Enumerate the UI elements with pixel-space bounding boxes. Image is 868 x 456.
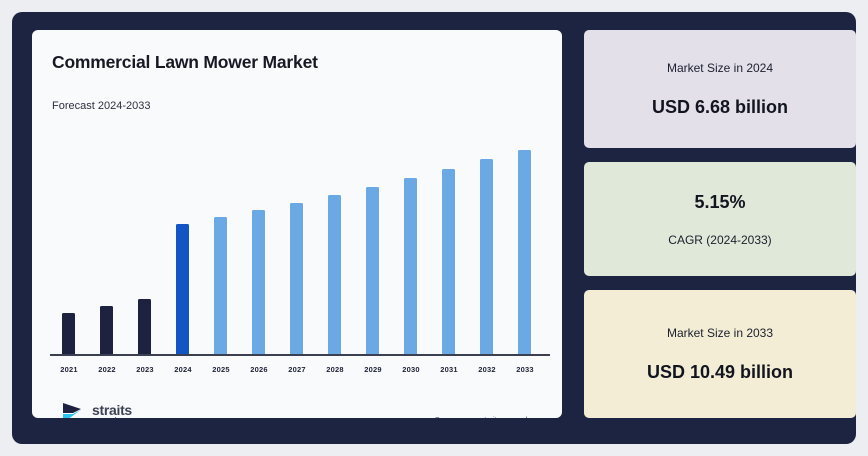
tick-label-2028: 2028 <box>316 365 354 374</box>
stat-value: USD 6.68 billion <box>652 97 788 118</box>
stat-label: Market Size in 2033 <box>667 326 773 340</box>
bar-2029[interactable] <box>366 187 379 354</box>
bar-slot <box>50 130 88 354</box>
bar-2032[interactable] <box>480 159 493 354</box>
bar-slot <box>392 130 430 354</box>
tick-label-2024: 2024 <box>164 365 202 374</box>
bar-2031[interactable] <box>442 169 455 354</box>
tick-label-2030: 2030 <box>392 365 430 374</box>
x-axis-line <box>50 354 550 356</box>
bar-slot <box>354 130 392 354</box>
stat-value: 5.15% <box>694 192 745 213</box>
stat-value: USD 10.49 billion <box>647 362 793 383</box>
bar-slot <box>240 130 278 354</box>
tick-label-2023: 2023 <box>126 365 164 374</box>
bar-slot <box>202 130 240 354</box>
page-background: Commercial Lawn Mower Market Forecast 20… <box>0 0 868 456</box>
infographic-panel: Commercial Lawn Mower Market Forecast 20… <box>12 12 856 444</box>
tick-label-2022: 2022 <box>88 365 126 374</box>
bar-series <box>50 130 550 354</box>
stat-label: CAGR (2024-2033) <box>668 233 771 247</box>
bar-slot <box>278 130 316 354</box>
bar-2027[interactable] <box>290 203 303 354</box>
arrow-logo-icon <box>62 402 88 418</box>
bar-slot <box>164 130 202 354</box>
tick-label-2031: 2031 <box>430 365 468 374</box>
stat-card-market-size-2024: Market Size in 2024 USD 6.68 billion <box>584 30 856 148</box>
tick-label-2021: 2021 <box>50 365 88 374</box>
bar-slot <box>506 130 544 354</box>
tick-label-2025: 2025 <box>202 365 240 374</box>
bar-slot <box>468 130 506 354</box>
bar-chart-plot: 2021202220232024202520262027202820292030… <box>50 130 550 380</box>
bar-2023[interactable] <box>138 299 151 354</box>
bar-slot <box>316 130 354 354</box>
bar-2030[interactable] <box>404 178 417 354</box>
tick-label-2033: 2033 <box>506 365 544 374</box>
source-attribution: Source: www.straitsresearch.com <box>435 415 546 418</box>
chart-subtitle: Forecast 2024-2033 <box>52 100 150 112</box>
logo-wordmark: straits <box>92 403 132 417</box>
chart-card: Commercial Lawn Mower Market Forecast 20… <box>32 30 562 418</box>
bar-2033[interactable] <box>518 150 531 354</box>
stat-card-cagr: 5.15% CAGR (2024-2033) <box>584 162 856 276</box>
tick-label-2026: 2026 <box>240 365 278 374</box>
bar-2028[interactable] <box>328 195 341 354</box>
tick-label-2032: 2032 <box>468 365 506 374</box>
bar-2021[interactable] <box>62 313 75 354</box>
tick-label-2027: 2027 <box>278 365 316 374</box>
bar-2026[interactable] <box>252 210 265 354</box>
tick-label-2029: 2029 <box>354 365 392 374</box>
bar-2022[interactable] <box>100 306 113 354</box>
stat-card-market-size-2033: Market Size in 2033 USD 10.49 billion <box>584 290 856 418</box>
bar-slot <box>88 130 126 354</box>
bar-slot <box>430 130 468 354</box>
straits-research-logo: straits research <box>62 402 132 418</box>
bar-2025[interactable] <box>214 217 227 354</box>
stat-label: Market Size in 2024 <box>667 61 773 75</box>
bar-slot <box>126 130 164 354</box>
page-title: Commercial Lawn Mower Market <box>52 52 318 73</box>
bar-2024[interactable] <box>176 224 189 354</box>
